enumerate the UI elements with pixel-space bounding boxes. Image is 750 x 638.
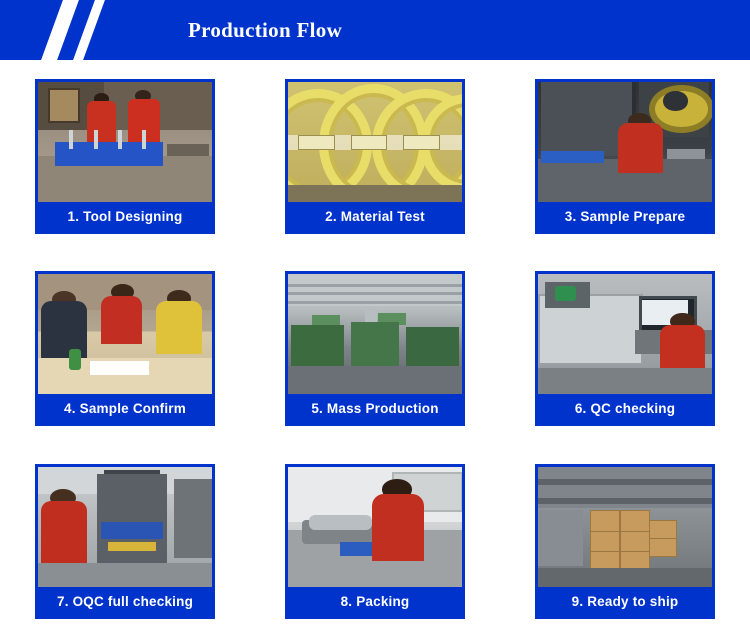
page-title: Production Flow	[188, 0, 342, 60]
steps-grid: 1. Tool Designing 2. Material Test	[0, 60, 750, 638]
step-cell-7: 7. OQC full checking	[0, 445, 250, 638]
step-card-6[interactable]: 6. QC checking	[535, 271, 715, 426]
step-photo-5	[288, 274, 462, 394]
step-card-3[interactable]: 3. Sample Prepare	[535, 79, 715, 234]
step-photo-1	[38, 82, 212, 202]
page-header: Production Flow	[0, 0, 750, 60]
step-cell-8: 8. Packing	[250, 445, 500, 638]
step-card-9[interactable]: 9. Ready to ship	[535, 464, 715, 619]
step-caption-2: 2. Material Test	[288, 202, 462, 231]
step-caption-1: 1. Tool Designing	[38, 202, 212, 231]
step-photo-8	[288, 467, 462, 587]
step-card-1[interactable]: 1. Tool Designing	[35, 79, 215, 234]
step-cell-1: 1. Tool Designing	[0, 60, 250, 253]
step-cell-2: 2. Material Test	[250, 60, 500, 253]
step-photo-4	[38, 274, 212, 394]
step-caption-7: 7. OQC full checking	[38, 587, 212, 616]
step-photo-9	[538, 467, 712, 587]
step-card-2[interactable]: 2. Material Test	[285, 79, 465, 234]
header-slash-icon	[41, 0, 79, 60]
step-cell-4: 4. Sample Confirm	[0, 253, 250, 446]
step-card-8[interactable]: 8. Packing	[285, 464, 465, 619]
step-photo-6	[538, 274, 712, 394]
step-photo-3	[538, 82, 712, 202]
step-caption-3: 3. Sample Prepare	[538, 202, 712, 231]
step-card-5[interactable]: 5. Mass Production	[285, 271, 465, 426]
step-photo-2	[288, 82, 462, 202]
step-cell-9: 9. Ready to ship	[500, 445, 750, 638]
step-card-4[interactable]: 4. Sample Confirm	[35, 271, 215, 426]
production-flow-page: Production Flow 1. Tool Designing	[0, 0, 750, 638]
step-cell-3: 3. Sample Prepare	[500, 60, 750, 253]
step-cell-6: 6. QC checking	[500, 253, 750, 446]
step-caption-6: 6. QC checking	[538, 394, 712, 423]
step-caption-8: 8. Packing	[288, 587, 462, 616]
step-photo-7	[38, 467, 212, 587]
step-caption-9: 9. Ready to ship	[538, 587, 712, 616]
header-slash-icon-2	[73, 0, 105, 60]
step-caption-5: 5. Mass Production	[288, 394, 462, 423]
step-caption-4: 4. Sample Confirm	[38, 394, 212, 423]
step-card-7[interactable]: 7. OQC full checking	[35, 464, 215, 619]
step-cell-5: 5. Mass Production	[250, 253, 500, 446]
